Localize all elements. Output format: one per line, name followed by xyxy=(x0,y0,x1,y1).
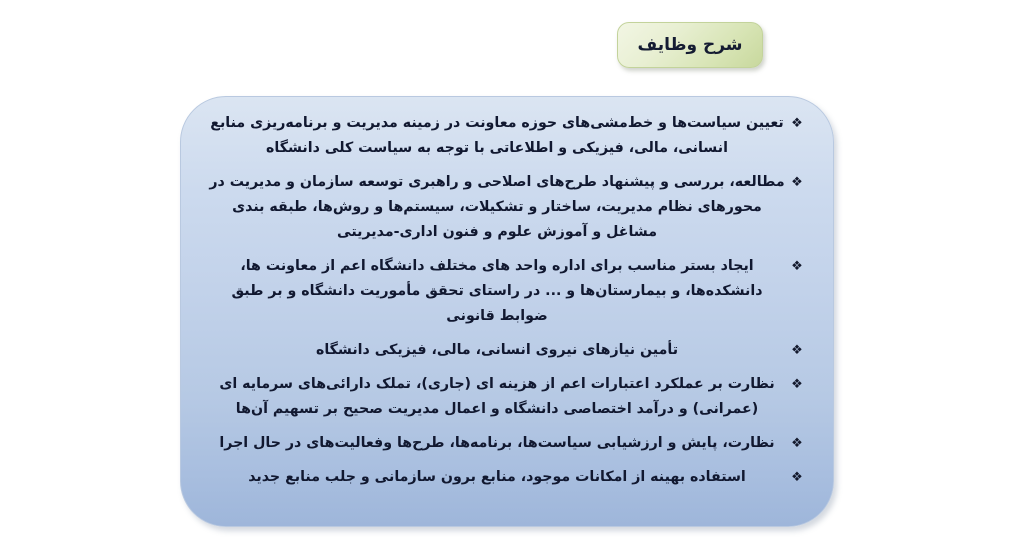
list-item: ❖ نظارت، پایش و ارزشیابی سیاست‌ها، برنام… xyxy=(207,431,807,456)
duties-panel: ❖ تعیین سیاست‌ها و خط‌مشی‌های حوزه معاون… xyxy=(180,96,834,527)
duties-list: ❖ تعیین سیاست‌ها و خط‌مشی‌های حوزه معاون… xyxy=(207,111,807,490)
slide-canvas: شرح وظایف ❖ تعیین سیاست‌ها و خط‌مشی‌های … xyxy=(0,0,1010,556)
diamond-floret-bullet-icon: ❖ xyxy=(787,372,807,397)
page-title: شرح وظایف xyxy=(637,35,742,55)
diamond-floret-bullet-icon: ❖ xyxy=(787,254,807,279)
diamond-floret-bullet-icon: ❖ xyxy=(787,170,807,195)
list-item-text: تأمین نیازهای نیروی انسانی، مالی، فیزیکی… xyxy=(207,338,787,363)
list-item: ❖ ایجاد بستر مناسب برای اداره واحد های م… xyxy=(207,254,807,329)
list-item-text: نظارت، پایش و ارزشیابی سیاست‌ها، برنامه‌… xyxy=(207,431,787,456)
list-item: ❖ مطالعه، بررسی و پیشنهاد طرح‌های اصلاحی… xyxy=(207,170,807,245)
diamond-floret-bullet-icon: ❖ xyxy=(787,111,807,136)
list-item: ❖ تأمین نیازهای نیروی انسانی، مالی، فیزی… xyxy=(207,338,807,363)
list-item: ❖ نظارت بر عملکرد اعتبارات اعم از هزینه … xyxy=(207,372,807,422)
list-item-text: تعیین سیاست‌ها و خط‌مشی‌های حوزه معاونت … xyxy=(207,111,787,161)
list-item: ❖ استفاده بهینه از امکانات موجود، منابع … xyxy=(207,465,807,490)
list-item-text: استفاده بهینه از امکانات موجود، منابع بر… xyxy=(207,465,787,490)
diamond-floret-bullet-icon: ❖ xyxy=(787,338,807,363)
diamond-floret-bullet-icon: ❖ xyxy=(787,431,807,456)
list-item-text: مطالعه، بررسی و پیشنهاد طرح‌های اصلاحی و… xyxy=(207,170,787,245)
list-item: ❖ تعیین سیاست‌ها و خط‌مشی‌های حوزه معاون… xyxy=(207,111,807,161)
list-item-text: ایجاد بستر مناسب برای اداره واحد های مخت… xyxy=(207,254,787,329)
diamond-floret-bullet-icon: ❖ xyxy=(787,465,807,490)
list-item-text: نظارت بر عملکرد اعتبارات اعم از هزینه ای… xyxy=(207,372,787,422)
slide-title-plaque: شرح وظایف xyxy=(617,22,763,68)
